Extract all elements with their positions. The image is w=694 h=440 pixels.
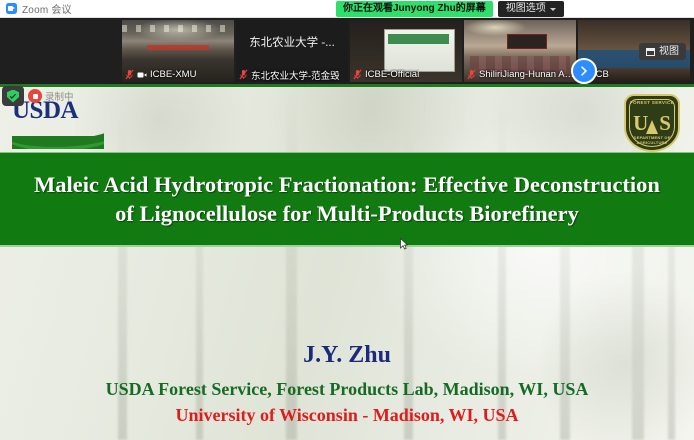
participant-label: ShiliriJiang-Hunan Ac... [464,67,576,82]
zoom-camera-icon [6,3,17,14]
mic-muted-icon [239,69,248,80]
view-chip-label: 视图 [659,43,679,60]
window-title: Zoom 会议 [22,1,72,16]
view-options-label: 视图选项 [506,1,546,17]
mic-muted-icon [467,69,476,80]
layout-grid-icon [646,48,655,56]
usda-swoosh-graphic [12,125,104,149]
slide-affiliation-1: USDA Forest Service, Forest Products Lab… [0,379,694,400]
slide-affiliation-2: University of Wisconsin - Madison, WI, U… [0,405,694,426]
video-on-icon [137,70,147,80]
pine-tree-icon [646,120,658,134]
participant-overlay-name: 东北农业大学 -... [236,34,348,50]
screen-sharing-banner: 你正在观看Junyong Zhu的屏幕 [336,1,493,17]
participant-thumbnail[interactable]: ICBE-XMU [122,20,234,82]
recording-label: 录制中 [45,89,74,103]
forest-service-shield-icon: FOREST SERVICE US DEPARTMENT OF AGRICULT… [624,94,680,152]
participant-thumbnail[interactable]: 东北农业大学 -... 东北农业大学-范金毁 [236,20,348,82]
participant-label: ICBE-XMU [122,67,234,82]
recording-indicator[interactable]: 录制中 [28,86,74,106]
participant-name: 东北农业大学-范金毁 [251,68,340,82]
participant-thumbnail[interactable]: ShiliriJiang-Hunan Ac... [464,20,576,82]
mic-muted-icon [125,69,134,80]
participant-name: ICBE-Official [365,69,419,80]
zoom-meeting-window: Zoom 会议 你正在观看Junyong Zhu的屏幕 视图选项 [0,0,694,440]
participant-filmstrip[interactable]: ICBE-XMU 东北农业大学 -... 东北农业大学-范金毁 [0,18,694,84]
titlebar-left-group: Zoom 会议 [0,1,72,16]
fs-bottom-text: DEPARTMENT OF AGRICULTURE [626,135,678,145]
participant-label: ICBE-Official [350,67,462,82]
title-bar: Zoom 会议 你正在观看Junyong Zhu的屏幕 视图选项 [0,0,694,18]
mic-muted-icon [353,69,362,80]
page-title: Maleic Acid Hydrotropic Fractionation: E… [27,170,667,228]
slide-author: J.Y. Zhu [0,342,694,369]
participant-label: 东北农业大学-范金毁 [236,67,348,82]
view-options-button[interactable]: 视图选项 [498,1,564,17]
participant-name: ShiliriJiang-Hunan Ac... [479,69,576,80]
slide-title-band: Maleic Acid Hydrotropic Fractionation: E… [0,152,694,247]
chevron-down-icon [550,8,556,11]
slide-top-rule [0,84,694,87]
shared-screen-slide: USDA FOREST SERVICE US DEPARTMENT OF AGR… [0,84,694,440]
participant-name: ICBE-XMU [150,69,196,80]
filmstrip-thumbnails: ICBE-XMU 东北农业大学 -... 东北农业大学-范金毁 [122,20,690,82]
mouse-cursor [400,237,408,249]
recording-stop-icon[interactable] [28,89,42,103]
chevron-right-icon[interactable] [571,58,597,84]
fs-top-text: FOREST SERVICE [626,100,678,105]
security-shield-icon[interactable] [2,86,24,106]
participant-thumbnail[interactable]: ICBE-Official [350,20,462,82]
view-layout-button[interactable]: 视图 [639,43,686,60]
titlebar-center-group: 你正在观看Junyong Zhu的屏幕 视图选项 [336,1,564,17]
